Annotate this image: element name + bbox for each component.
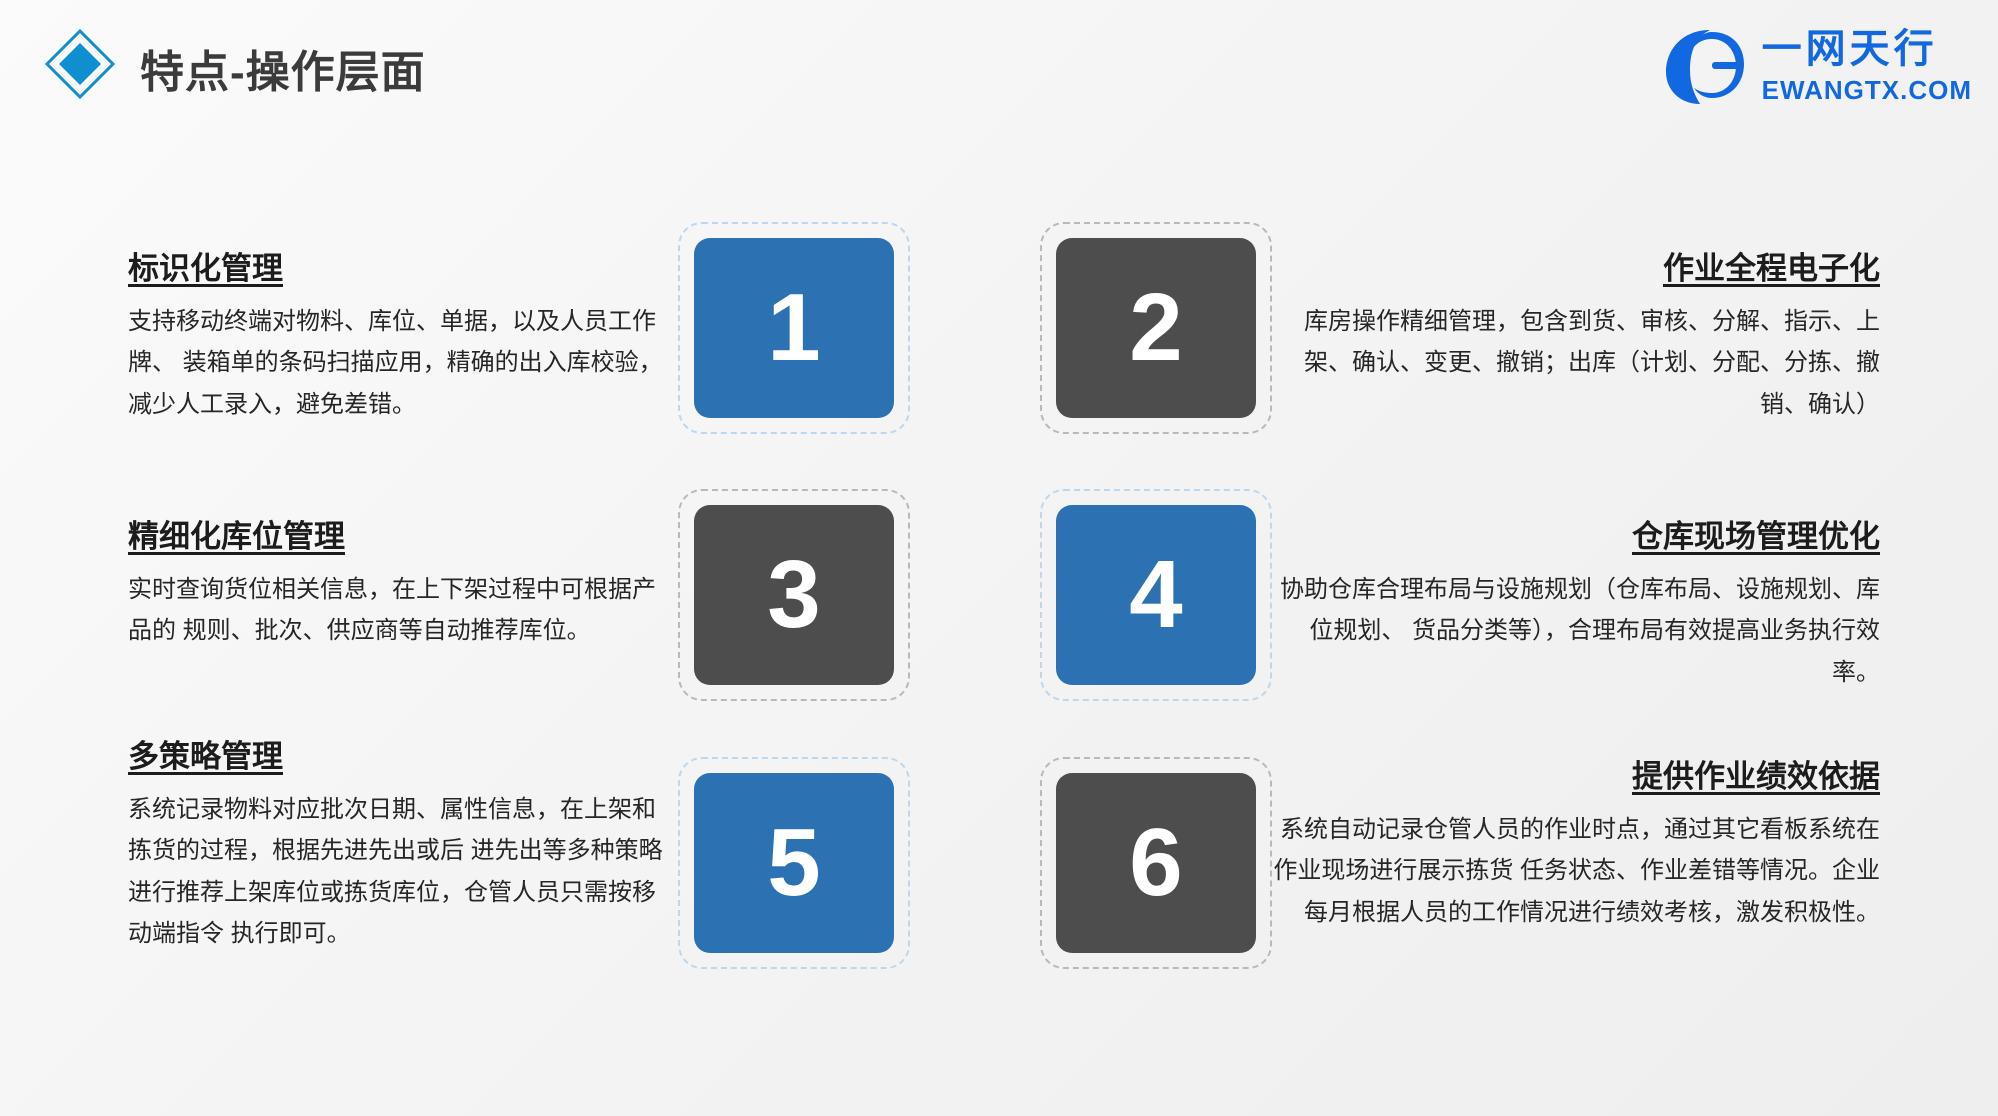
logo-text: 一网天行 EWANGTX.COM (1762, 29, 1972, 103)
tile-number: 1 (694, 238, 894, 418)
feature-heading-3: 精细化库位管理 (128, 518, 668, 555)
tile-number: 6 (1056, 773, 1256, 953)
feature-heading-2: 作业全程电子化 (1280, 250, 1880, 287)
diamond-icon (44, 28, 116, 100)
feature-body-4: 协助仓库合理布局与设施规划（仓库布局、设施规划、库位规划、 货品分类等），合理布… (1280, 569, 1880, 693)
feature-heading-5: 多策略管理 (128, 738, 668, 775)
tile-number: 4 (1056, 505, 1256, 685)
tile-number: 3 (694, 505, 894, 685)
feature-body-2: 库房操作精细管理，包含到货、审核、分解、指示、上架、确认、变更、撤销；出库（计划… (1280, 301, 1880, 425)
ewang-e-logo-icon (1660, 24, 1748, 108)
feature-block-4: 仓库现场管理优化 协助仓库合理布局与设施规划（仓库布局、设施规划、库位规划、 货… (1280, 518, 1880, 693)
page-title: 特点-操作层面 (140, 36, 426, 100)
feature-heading-6: 提供作业绩效依据 (1260, 758, 1880, 795)
feature-body-3: 实时查询货位相关信息，在上下架过程中可根据产品的 规则、批次、供应商等自动推荐库… (128, 569, 668, 652)
tile-number: 5 (694, 773, 894, 953)
feature-block-2: 作业全程电子化 库房操作精细管理，包含到货、审核、分解、指示、上架、确认、变更、… (1280, 250, 1880, 425)
feature-heading-4: 仓库现场管理优化 (1280, 518, 1880, 555)
tile-number: 2 (1056, 238, 1256, 418)
feature-heading-1: 标识化管理 (128, 250, 668, 287)
feature-block-6: 提供作业绩效依据 系统自动记录仓管人员的作业时点，通过其它看板系统在作业现场进行… (1260, 758, 1880, 933)
feature-body-1: 支持移动终端对物料、库位、单据，以及人员工作牌、 装箱单的条码扫描应用，精确的出… (128, 301, 668, 425)
feature-block-1: 标识化管理 支持移动终端对物料、库位、单据，以及人员工作牌、 装箱单的条码扫描应… (128, 250, 668, 425)
feature-body-6: 系统自动记录仓管人员的作业时点，通过其它看板系统在作业现场进行展示拣货 任务状态… (1260, 809, 1880, 933)
logo-domain: EWANGTX.COM (1762, 77, 1972, 103)
feature-block-3: 精细化库位管理 实时查询货位相关信息，在上下架过程中可根据产品的 规则、批次、供… (128, 518, 668, 652)
feature-block-5: 多策略管理 系统记录物料对应批次日期、属性信息，在上架和拣货的过程，根据先进先出… (128, 738, 668, 954)
logo-chinese-name: 一网天行 (1762, 29, 1972, 69)
slide-header: 特点-操作层面 一网天行 EWANGTX.COM (0, 0, 1998, 130)
brand-logo: 一网天行 EWANGTX.COM (1660, 20, 1972, 112)
feature-body-5: 系统记录物料对应批次日期、属性信息，在上架和拣货的过程，根据先进先出或后 进先出… (128, 789, 668, 954)
